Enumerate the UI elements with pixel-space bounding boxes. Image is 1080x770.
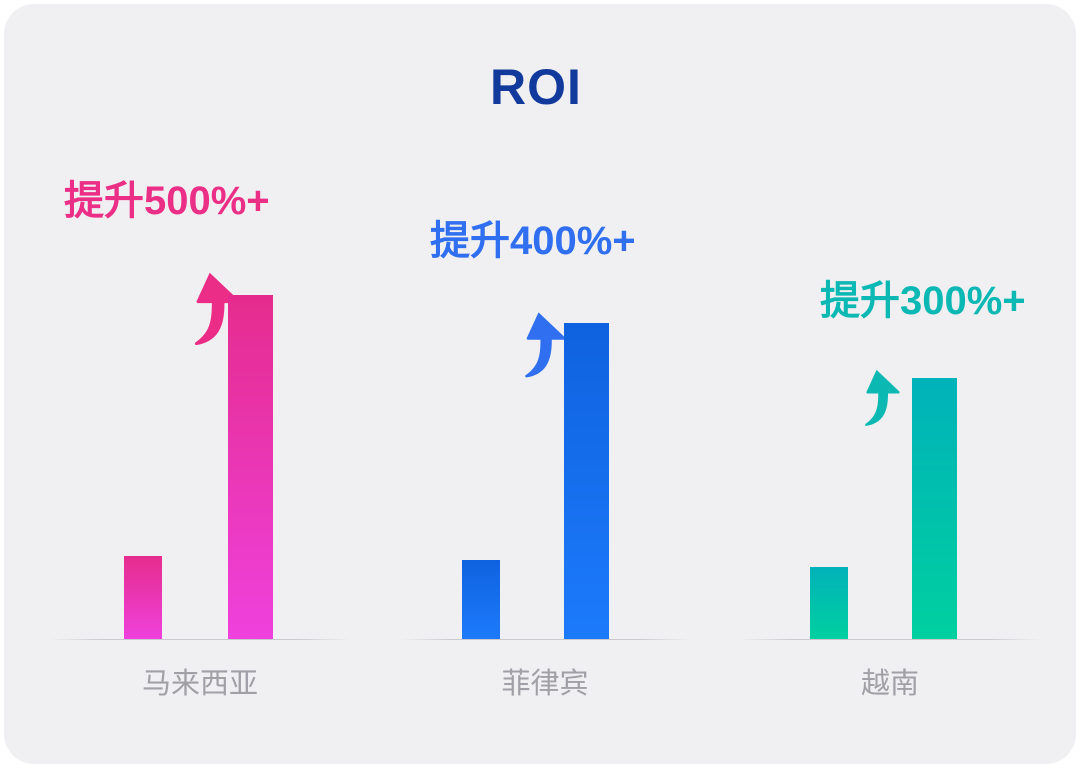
growth-arrow-icon-vietnam	[852, 352, 914, 444]
category-label-philippines: 菲律宾	[400, 660, 690, 702]
bar-after-malaysia	[228, 295, 273, 639]
bar-group-vietnam: 提升300%+越南	[740, 0, 1040, 760]
baseline-philippines	[400, 639, 690, 640]
growth-callout-malaysia: 提升500%+	[64, 168, 270, 226]
bar-before-vietnam	[810, 567, 848, 639]
chart-canvas: ROI 提升500%+马来西亚提升400%+菲律宾提升300%+越南	[0, 0, 1080, 770]
growth-callout-vietnam: 提升300%+	[820, 268, 1026, 326]
category-label-malaysia: 马来西亚	[50, 660, 350, 702]
bar-group-malaysia: 提升500%+马来西亚	[50, 0, 350, 760]
bar-group-philippines: 提升400%+菲律宾	[400, 0, 690, 760]
bar-before-philippines	[462, 560, 500, 639]
growth-callout-philippines: 提升400%+	[430, 208, 636, 266]
plot-area: 提升500%+马来西亚提升400%+菲律宾提升300%+越南	[0, 0, 1072, 760]
category-label-vietnam: 越南	[740, 660, 1040, 702]
bar-after-vietnam	[912, 378, 957, 639]
bar-after-philippines	[564, 323, 609, 639]
baseline-vietnam	[740, 639, 1040, 640]
baseline-malaysia	[50, 639, 350, 640]
bar-before-malaysia	[124, 556, 162, 639]
